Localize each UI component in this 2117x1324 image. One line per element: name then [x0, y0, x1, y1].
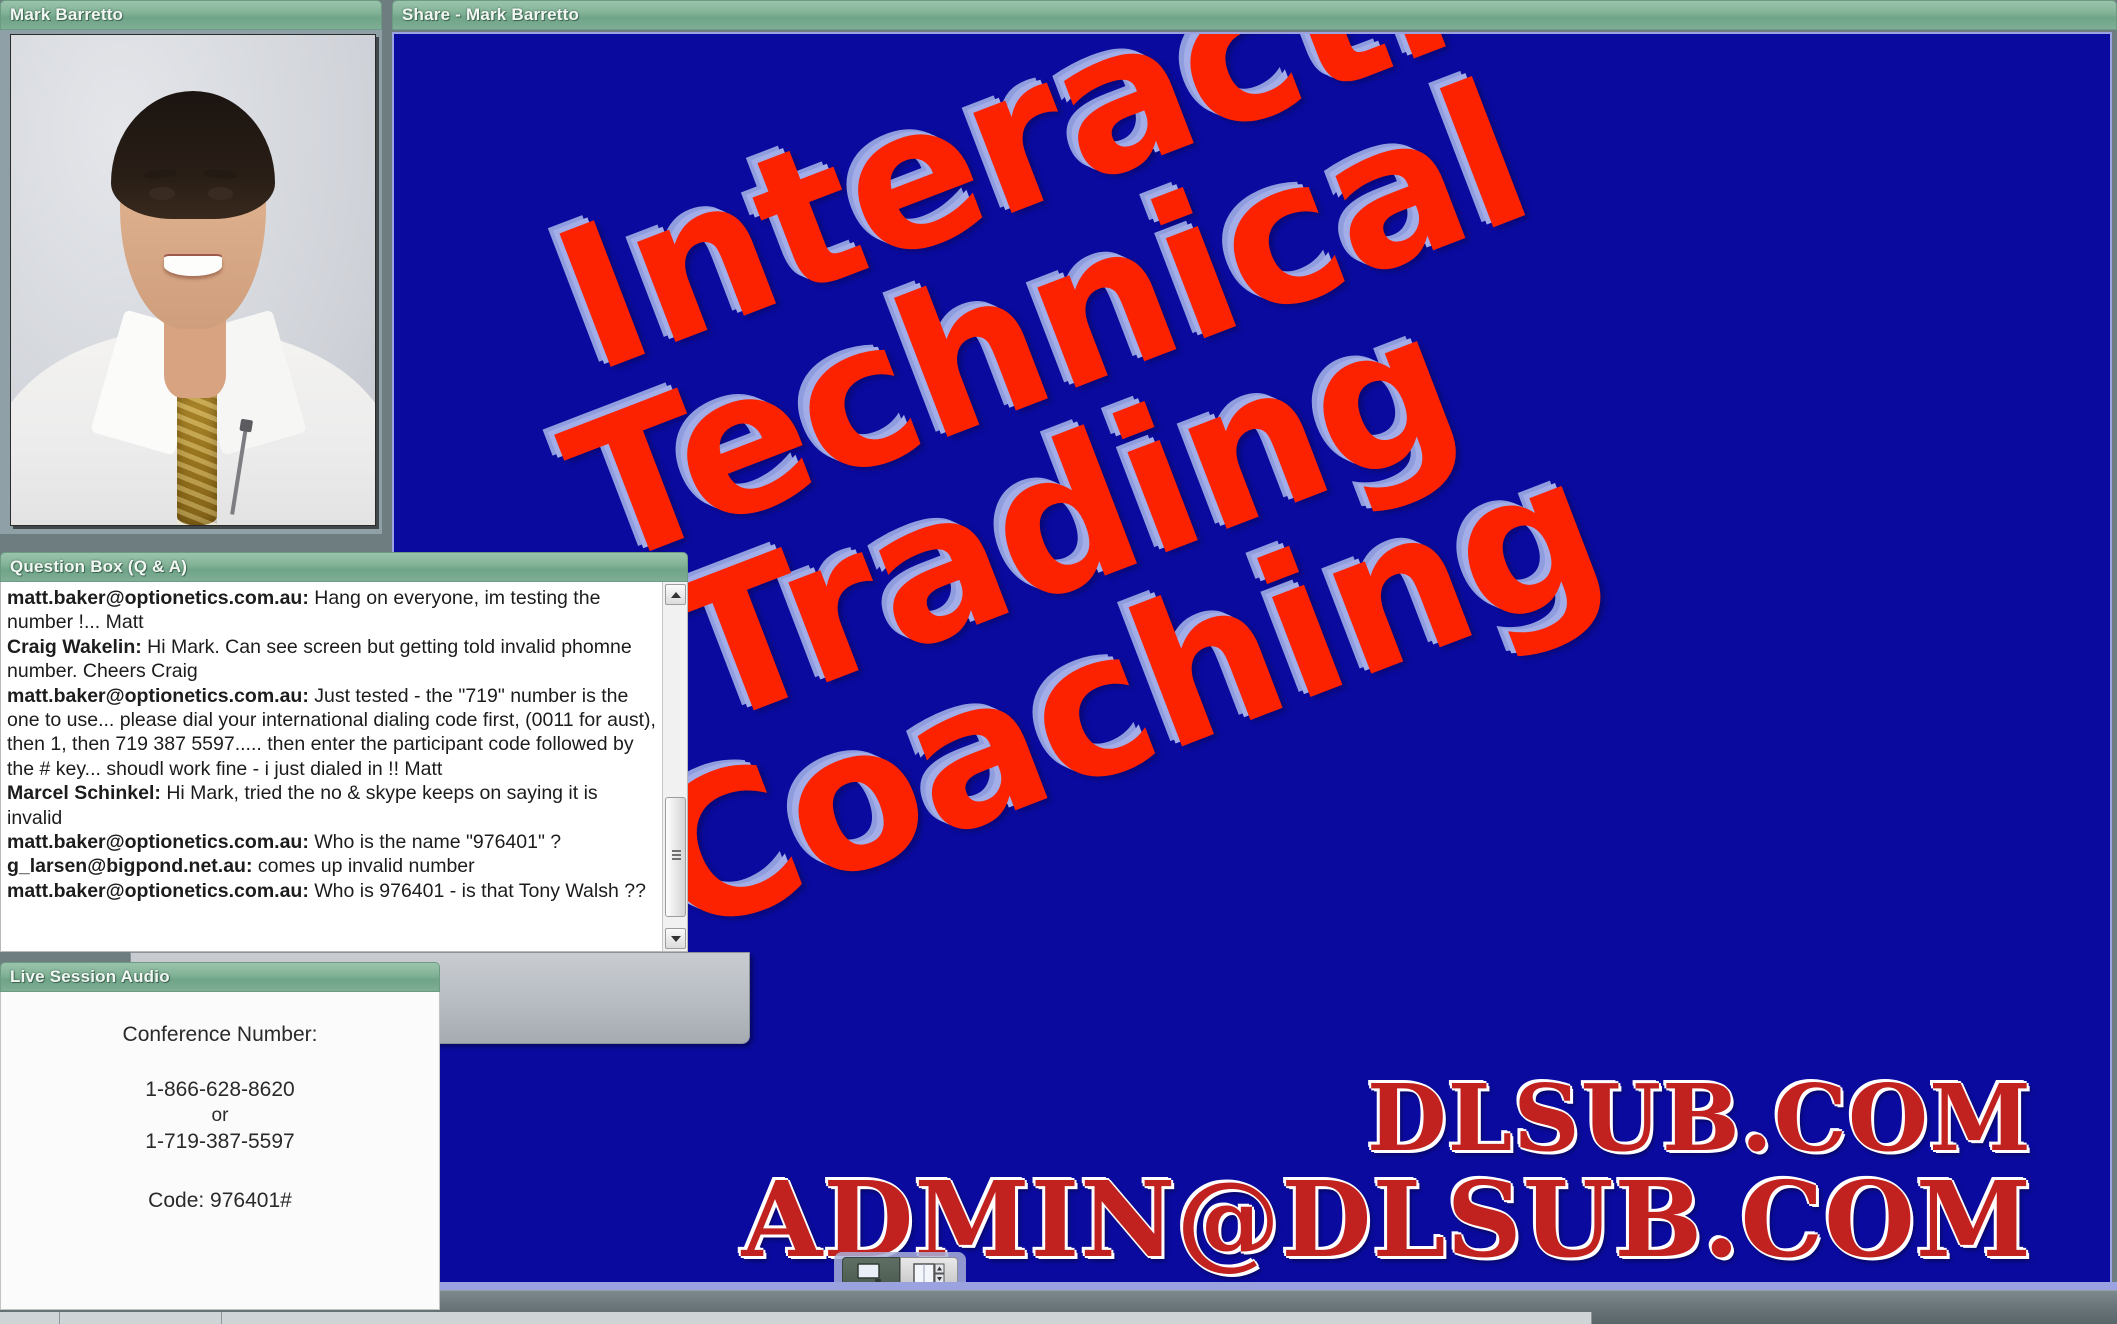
share-panel-title: Share - Mark Barretto [392, 0, 2117, 30]
scroll-down-arrow[interactable] [665, 928, 686, 949]
scroll-up-arrow[interactable] [665, 584, 686, 605]
audio-panel-body: Conference Number: 1-866-628-8620 or 1-7… [0, 992, 440, 1310]
conference-number-secondary: 1-719-387-5597 [1, 1131, 439, 1152]
hero-line-4: Coaching [625, 280, 2017, 963]
message-text: comes up invalid number [252, 855, 474, 877]
message-sender: g_larsen@bigpond.net.au: [7, 855, 252, 877]
taskbar-segment[interactable] [0, 1312, 60, 1324]
message-sender: Marcel Schinkel: [7, 782, 161, 804]
hero-line-2: Technical [547, 32, 1883, 593]
conference-number-label: Conference Number: [1, 1024, 439, 1045]
question-box-panel: Question Box (Q & A) matt.baker@optionet… [0, 552, 688, 952]
presenter-video-panel: Mark Barretto [0, 0, 382, 534]
message-sender: matt.baker@optionetics.com.au: [7, 831, 309, 853]
taskbar-segment[interactable] [222, 1312, 1592, 1324]
message-sender: Craig Wakelin: [7, 636, 142, 658]
list-item: matt.baker@optionetics.com.au: Who is th… [7, 830, 656, 854]
taskbar-segment[interactable] [60, 1312, 222, 1324]
presenter-photo [11, 35, 375, 525]
question-box-title: Question Box (Q & A) [0, 552, 688, 582]
message-text: Who is the name "976401" ? [309, 831, 561, 853]
conference-number-separator: or [1, 1106, 439, 1125]
list-item: matt.baker@optionetics.com.au: Who is 97… [7, 879, 656, 903]
message-text: Who is 976401 - is that Tony Walsh ?? [309, 880, 646, 902]
message-sender: matt.baker@optionetics.com.au: [7, 880, 309, 902]
message-sender: matt.baker@optionetics.com.au: [7, 685, 309, 707]
list-item: g_larsen@bigpond.net.au: comes up invali… [7, 854, 656, 878]
scrollbar-thumb[interactable] [665, 797, 686, 917]
list-item: Craig Wakelin: Hi Mark. Can see screen b… [7, 635, 656, 684]
share-bottom-border [392, 1282, 2117, 1290]
list-item: matt.baker@optionetics.com.au: Hang on e… [7, 586, 656, 635]
webinar-window: Mark Barretto Share - Mark [0, 0, 2117, 1324]
conference-number-primary: 1-866-628-8620 [1, 1079, 439, 1100]
list-item: Marcel Schinkel: Hi Mark, tried the no &… [7, 781, 656, 830]
presenter-video-frame[interactable] [10, 34, 376, 526]
list-item: matt.baker@optionetics.com.au: Just test… [7, 684, 656, 782]
question-box-body: matt.baker@optionetics.com.au: Hang on e… [0, 582, 688, 952]
conference-access-code: Code: 976401# [1, 1190, 439, 1211]
watermark-site: DLSUB.COM [1367, 1064, 2032, 1172]
question-box-messages[interactable]: matt.baker@optionetics.com.au: Hang on e… [1, 582, 662, 951]
live-session-audio-panel: Live Session Audio Conference Number: 1-… [0, 962, 440, 1310]
message-sender: matt.baker@optionetics.com.au: [7, 587, 309, 609]
hero-line-1: Interactive [537, 32, 1817, 398]
question-box-scrollbar[interactable] [662, 582, 687, 951]
hero-line-3: Trading [651, 106, 1950, 753]
audio-panel-title: Live Session Audio [0, 962, 440, 992]
presenter-panel-title: Mark Barretto [0, 0, 382, 30]
